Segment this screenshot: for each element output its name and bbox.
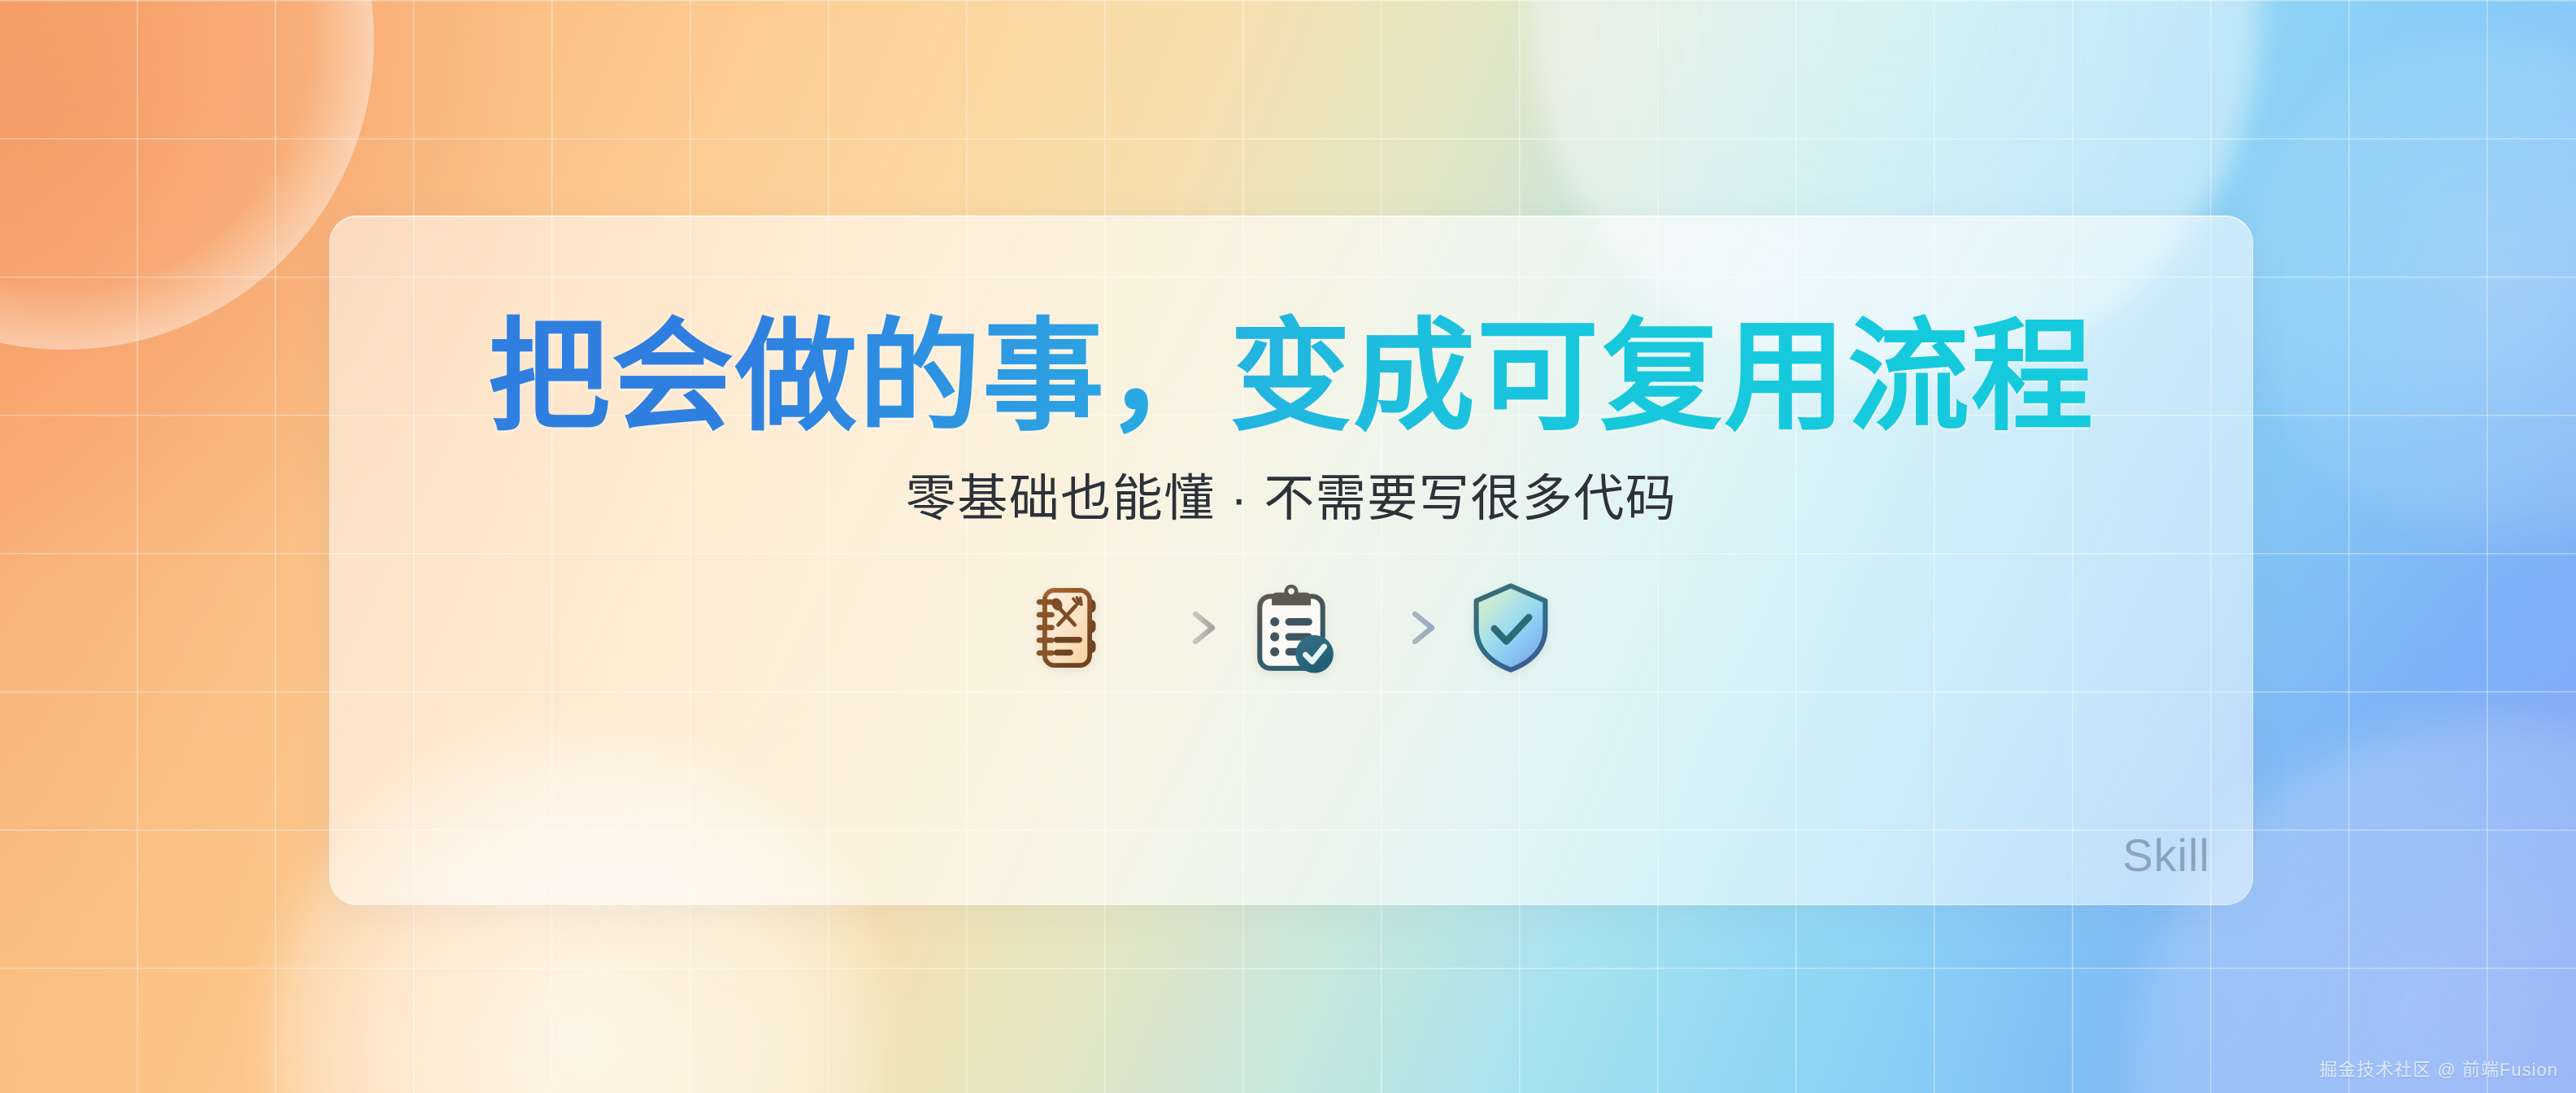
shield-check-icon	[1463, 580, 1559, 676]
skill-badge-label: Skill	[2122, 829, 2210, 882]
watermark: 掘金技术社区 @ 前端Fusion	[2319, 1056, 2558, 1082]
page-subtitle: 零基础也能懂 · 不需要写很多代码	[906, 469, 1677, 529]
glass-card: 把会做的事，变成可复用流程 零基础也能懂 · 不需要写很多代码	[329, 216, 2253, 905]
arrow-right-icon	[1339, 603, 1463, 652]
page-title: 把会做的事，变成可复用流程	[488, 312, 2095, 442]
recipe-book-icon	[1024, 580, 1120, 676]
banner-canvas: 把会做的事，变成可复用流程 零基础也能懂 · 不需要写很多代码	[0, 0, 2576, 1093]
clipboard-check-icon	[1243, 580, 1339, 676]
arrow-right-icon	[1120, 603, 1243, 652]
process-flow	[1024, 580, 1559, 676]
